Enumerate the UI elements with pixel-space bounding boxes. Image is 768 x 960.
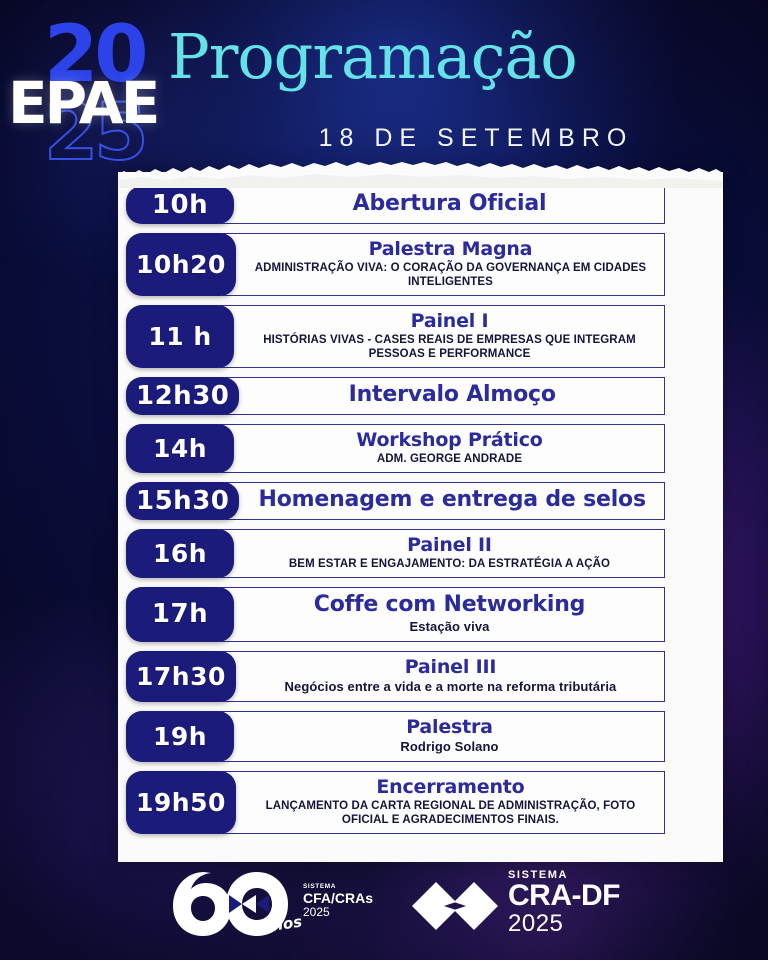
schedule-row-title: Workshop Prático [356, 430, 542, 451]
schedule-row-content: Palestra MagnaADMINISTRAÇÃO VIVA: O CORA… [222, 233, 665, 296]
schedule-row-title: Painel I [411, 311, 489, 332]
schedule-time-pill: 17h [126, 587, 234, 641]
anniversary-logo: anos SISTEMA CFA/CRAs 2025 [163, 866, 343, 942]
schedule-row-subtitle: BEM ESTAR E ENGAJAMENTO: DA ESTRATÉGIA A… [289, 557, 610, 571]
schedule-time-pill: 10h20 [126, 233, 236, 296]
schedule-row: 19h50EncerramentoLANÇAMENTO DA CARTA REG… [118, 771, 723, 834]
schedule-row: 12h30Intervalo Almoço [118, 377, 723, 415]
schedule-row-subtitle: ADMINISTRAÇÃO VIVA: O CORAÇÃO DA GOVERNA… [247, 261, 654, 289]
epae-logo: 20 25 EPAE [6, 16, 181, 176]
schedule-row-title: Palestra Magna [369, 239, 533, 260]
schedule-row-content: Homenagem e entrega de selos [225, 482, 665, 520]
schedule-row: 15h30Homenagem e entrega de selos [118, 482, 723, 520]
schedule-row: 10hAbertura Oficial [118, 186, 723, 224]
schedule-row-content: Painel IIBEM ESTAR E ENGAJAMENTO: DA EST… [220, 529, 665, 578]
schedule-time-pill: 12h30 [126, 377, 239, 415]
cra-year: 2025 [508, 912, 620, 936]
schedule-row: 17h30Painel IIINegócios entre a vida e a… [118, 651, 723, 702]
event-date: 18 DE SETEMBRO [168, 124, 768, 153]
schedule-row-subtitle: ADM. GEORGE ANDRADE [377, 452, 522, 466]
schedule-row-title: Painel III [405, 657, 497, 678]
schedule-row: 10h20Palestra MagnaADMINISTRAÇÃO VIVA: O… [118, 233, 723, 296]
cra-df-logo-text: SISTEMA CRA-DF 2025 [508, 870, 620, 936]
schedule-row-title: Coffe com Networking [314, 593, 585, 618]
schedule-row-title: Painel II [407, 535, 492, 556]
schedule-row-content: EncerramentoLANÇAMENTO DA CARTA REGIONAL… [222, 771, 665, 834]
schedule-time-pill: 16h [126, 529, 234, 578]
schedule-time-pill: 15h30 [126, 482, 239, 520]
schedule-time-pill: 17h30 [126, 651, 236, 702]
cra-name: CRA-DF [508, 881, 620, 912]
schedule-row-title: Intervalo Almoço [349, 383, 556, 408]
schedule-row: 11 hPainel IHISTÓRIAS VIVAS - CASES REAI… [118, 305, 723, 368]
schedule-row-content: Painel IHISTÓRIAS VIVAS - CASES REAIS DE… [220, 305, 665, 368]
schedule-row-subtitle: Rodrigo Solano [400, 739, 498, 755]
anniversary-year: 2025 [303, 906, 373, 919]
anniversary-org-name: CFA/CRAs [303, 891, 373, 906]
schedule-row-content: PalestraRodrigo Solano [220, 711, 665, 762]
schedule-row-subtitle: HISTÓRIAS VIVAS - CASES REAIS DE EMPRESA… [245, 333, 654, 361]
schedule-panel: 10hAbertura Oficial10h20Palestra MagnaAD… [118, 172, 723, 862]
schedule-row-subtitle: LANÇAMENTO DA CARTA REGIONAL DE ADMINIST… [247, 799, 654, 827]
schedule-row-subtitle: Negócios entre a vida e a morte na refor… [285, 679, 617, 695]
schedule-row-title: Palestra [406, 717, 493, 738]
schedule-time-pill: 11 h [126, 305, 234, 368]
schedule-time-pill: 19h50 [126, 771, 236, 834]
cra-df-logo: SISTEMA CRA-DF 2025 [412, 870, 642, 942]
schedule-row-title: Abertura Oficial [353, 192, 547, 217]
schedule-list: 10hAbertura Oficial10h20Palestra MagnaAD… [118, 186, 723, 843]
schedule-row-content: Coffe com NetworkingEstação viva [220, 587, 665, 641]
schedule-time-pill: 14h [126, 424, 234, 473]
schedule-row-subtitle: Estação viva [410, 619, 490, 635]
poster-header: 20 25 EPAE Programação 18 DE SETEMBRO [0, 0, 768, 180]
schedule-row-content: Intervalo Almoço [225, 377, 665, 415]
schedule-row-title: Homenagem e entrega de selos [259, 488, 646, 513]
poster-footer: anos SISTEMA CFA/CRAs 2025 SISTEMA CRA-D… [0, 868, 768, 960]
page-title: Programação [168, 26, 768, 88]
schedule-row: 16hPainel IIBEM ESTAR E ENGAJAMENTO: DA … [118, 529, 723, 578]
schedule-row: 14hWorkshop PráticoADM. GEORGE ANDRADE [118, 424, 723, 473]
schedule-row-title: Encerramento [376, 777, 524, 798]
schedule-row-content: Abertura Oficial [220, 186, 665, 224]
anniversary-logo-text: SISTEMA CFA/CRAs 2025 [303, 884, 373, 918]
schedule-time-pill: 10h [126, 186, 234, 224]
schedule-row: 17hCoffe com NetworkingEstação viva [118, 587, 723, 641]
schedule-row: 19hPalestraRodrigo Solano [118, 711, 723, 762]
schedule-time-pill: 19h [126, 711, 234, 762]
schedule-row-content: Workshop PráticoADM. GEORGE ANDRADE [220, 424, 665, 473]
epae-logo-acronym: EPAE [8, 74, 157, 132]
cra-diamond-icon [412, 882, 498, 935]
schedule-row-content: Painel IIINegócios entre a vida e a mort… [222, 651, 665, 702]
poster-root: 20 25 EPAE Programação 18 DE SETEMBRO 10… [0, 0, 768, 960]
